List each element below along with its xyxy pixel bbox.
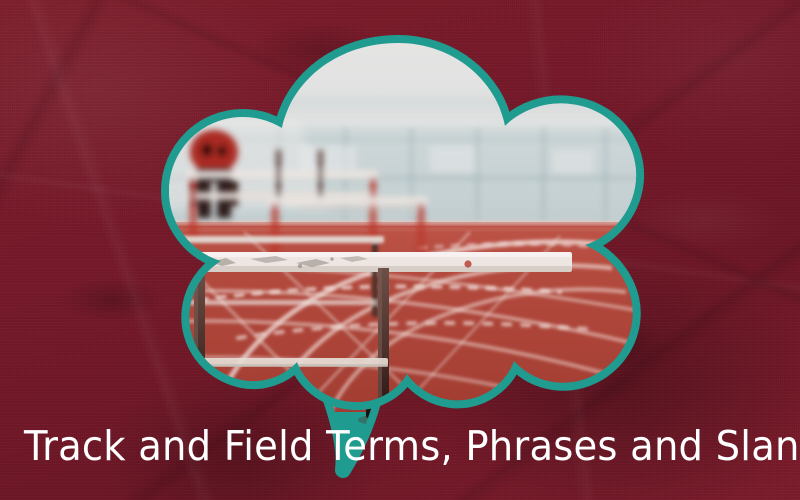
bubble-photo <box>150 20 670 432</box>
banner-canvas: Track and Field Terms, Phrases and Slang <box>0 0 800 500</box>
page-title: Track and Field Terms, Phrases and Slang <box>24 421 776 471</box>
